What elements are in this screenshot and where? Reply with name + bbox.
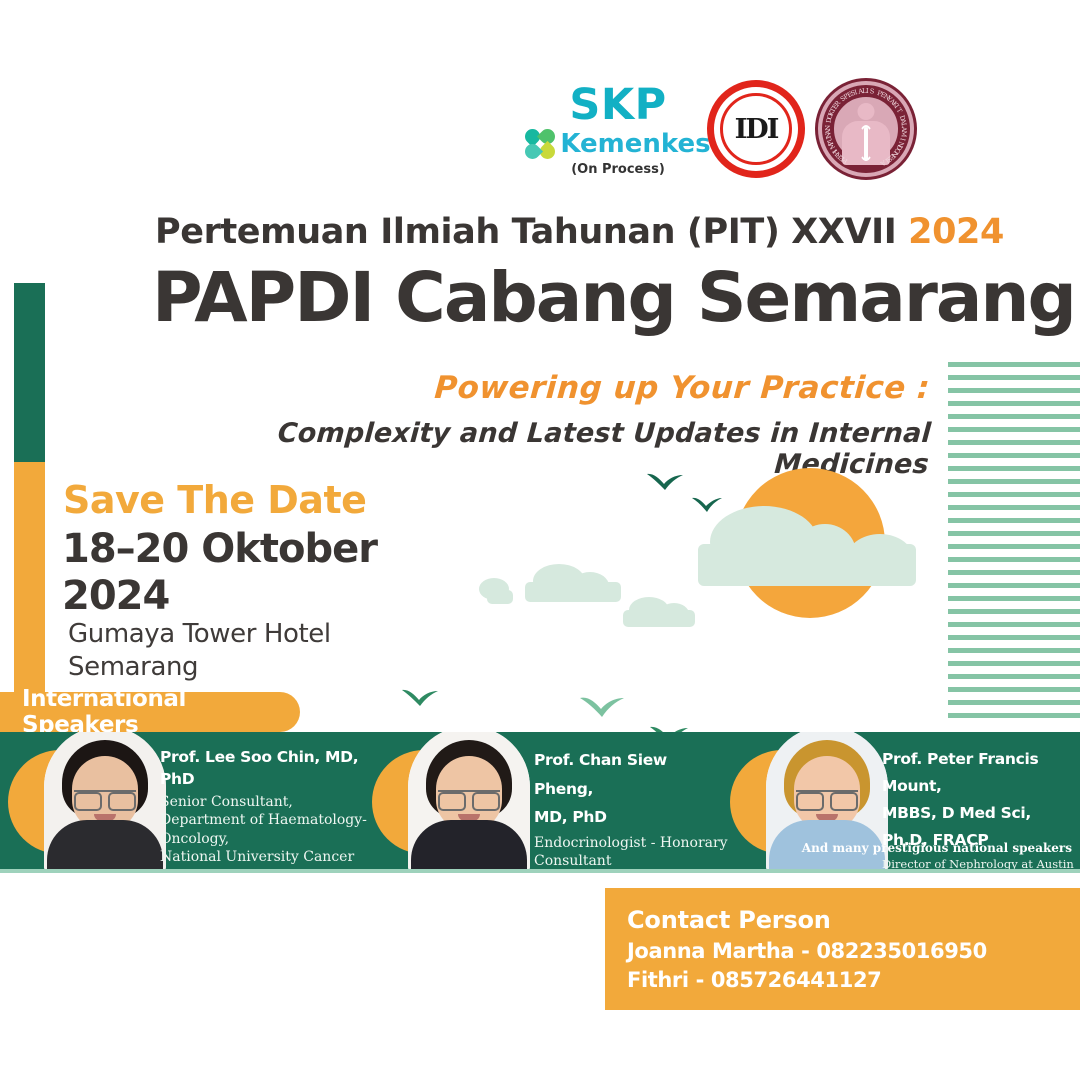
speaker-name: Prof. Chan Siew Pheng, MD, PhD <box>534 746 730 832</box>
bird-icon <box>578 695 626 721</box>
skp-kemenkes-logo: SKP Kemenkes (On Process) <box>518 84 718 204</box>
flower-icon <box>525 129 555 159</box>
theme-headline: Powering up Your Practice : <box>139 370 932 406</box>
stripe-pattern-decoration <box>948 362 1080 720</box>
speaker-card: Prof. Lee Soo Chin, MD, PhD Senior Consu… <box>8 732 378 873</box>
left-accent-bar-orange <box>14 462 45 710</box>
page-title: PAPDI Cabang Semarang <box>152 258 952 338</box>
skp-wordmark: SKP <box>518 84 718 127</box>
speaker-name: Prof. Peter Francis Mount, MBBS, D Med S… <box>882 746 1080 855</box>
papdi-seal-text: PERHIMPUNAN DOKTER SPESIALIS PENYAKIT DA… <box>822 85 910 173</box>
skp-status-note: (On Process) <box>518 162 718 177</box>
speaker-role: Senior Consultant, Department of Haemato… <box>160 793 375 867</box>
international-speakers-badge: International Speakers <box>0 692 300 732</box>
idi-wordmark: IDI <box>735 114 778 145</box>
cloud-icon <box>487 578 513 604</box>
event-venue: Gumaya Tower Hotel Semarang <box>68 618 408 683</box>
contact-person-1[interactable]: Joanna Martha - 082235016950 <box>627 939 1080 963</box>
event-date: 18–20 Oktober 2024 <box>62 526 382 620</box>
left-accent-bar-green <box>14 283 45 462</box>
speaker-card: Prof. Chan Siew Pheng, MD, PhD Endocrino… <box>372 732 732 873</box>
cloud-icon <box>698 498 916 586</box>
speaker-name: Prof. Lee Soo Chin, MD, PhD <box>160 748 358 788</box>
avatar <box>44 732 166 873</box>
bird-icon <box>690 496 724 515</box>
save-the-date-label: Save The Date <box>63 478 366 522</box>
idi-logo: IDI <box>707 80 805 178</box>
cloud-icon <box>525 562 621 602</box>
poster-canvas: SKP Kemenkes (On Process) IDI <box>0 0 1080 1080</box>
avatar <box>408 732 530 873</box>
band-underline-decoration <box>0 869 1080 873</box>
kemenkes-wordmark: Kemenkes <box>560 129 710 159</box>
bird-icon <box>400 688 440 710</box>
bird-icon <box>645 472 685 494</box>
cloud-icon <box>623 595 695 627</box>
event-name-text: Pertemuan Ilmiah Tahunan (PIT) XXVII <box>155 212 896 252</box>
international-speakers-label: International Speakers <box>22 686 300 738</box>
event-subtitle: Pertemuan Ilmiah Tahunan (PIT) XXVII 202… <box>155 212 945 252</box>
contact-title: Contact Person <box>627 906 1080 934</box>
event-year-text: 2024 <box>908 212 1004 252</box>
papdi-logo: PERHIMPUNAN DOKTER SPESIALIS PENYAKIT DA… <box>815 78 917 180</box>
contact-person-2[interactable]: Fithri - 085726441127 <box>627 968 1080 992</box>
national-speakers-note: And many prestigious national speakers <box>700 841 1072 855</box>
contact-box: Contact Person Joanna Martha - 082235016… <box>605 888 1080 1010</box>
speakers-band: Prof. Lee Soo Chin, MD, PhD Senior Consu… <box>0 732 1080 873</box>
logo-row: SKP Kemenkes (On Process) IDI <box>500 62 960 202</box>
